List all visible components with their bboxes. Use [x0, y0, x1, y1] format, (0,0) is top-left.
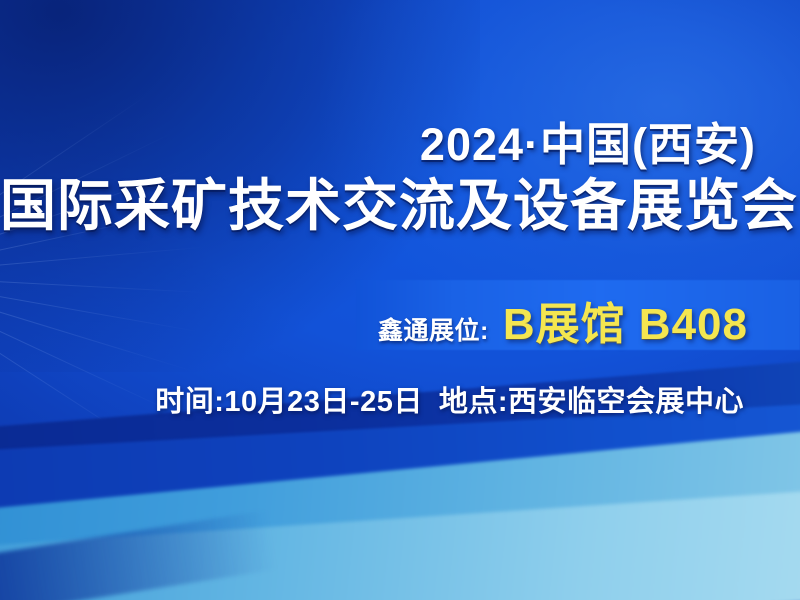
title-line-event-name: 国际采矿技术交流及设备展览会: [0, 174, 756, 238]
booth-label: 鑫通展位:: [378, 311, 489, 347]
poster-content: 2024·中国(西安) 国际采矿技术交流及设备展览会 鑫通展位: B展馆 B40…: [0, 0, 800, 600]
event-meta-row: 时间:10月23日-25日地点:西安临空会展中心: [0, 378, 744, 420]
poster-title: 2024·中国(西安) 国际采矿技术交流及设备展览会: [0, 118, 756, 238]
event-date: 时间:10月23日-25日: [155, 386, 423, 418]
exhibition-poster: 2024·中国(西安) 国际采矿技术交流及设备展览会 鑫通展位: B展馆 B40…: [0, 0, 800, 600]
title-line-year-location: 2024·中国(西安): [0, 118, 756, 172]
booth-info-row: 鑫通展位: B展馆 B408: [378, 288, 748, 352]
event-venue: 地点:西安临空会展中心: [439, 386, 744, 418]
booth-number: B展馆 B408: [503, 288, 748, 352]
